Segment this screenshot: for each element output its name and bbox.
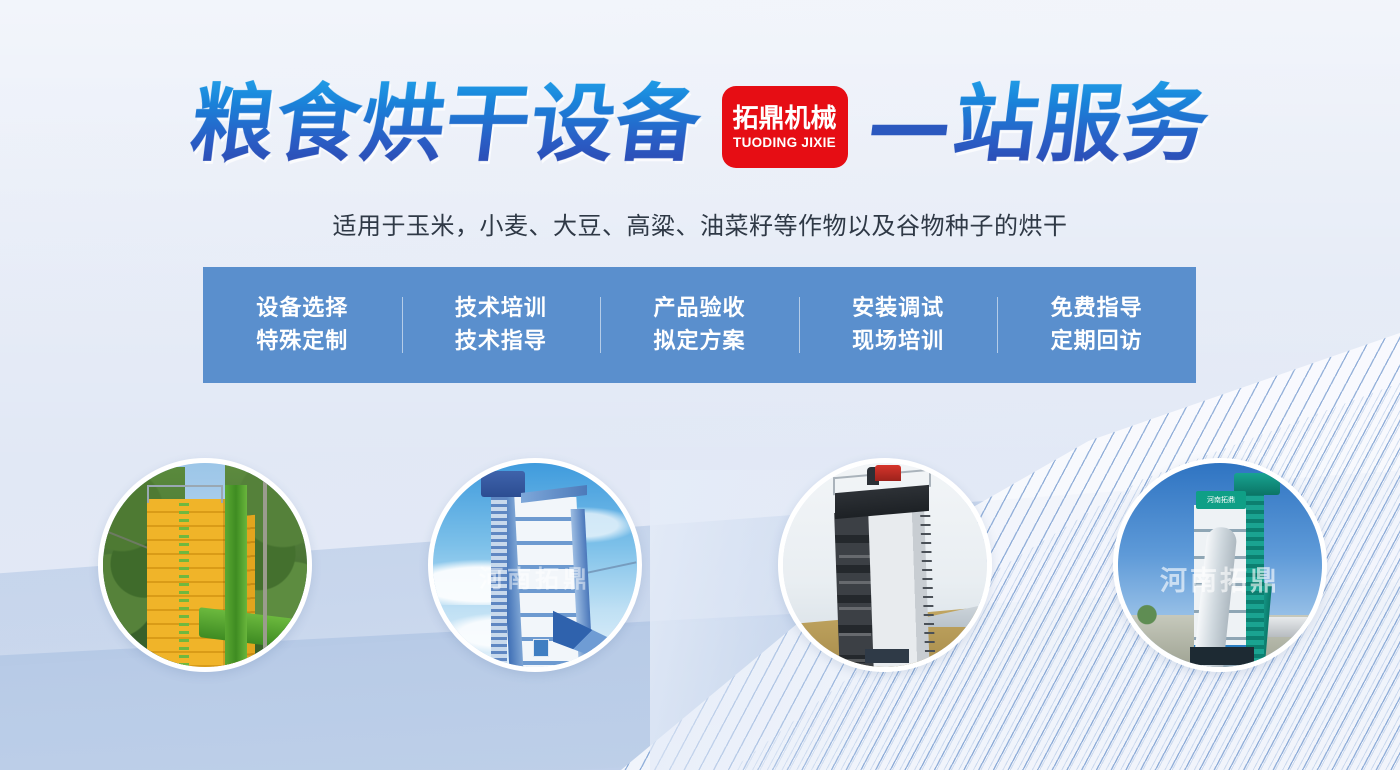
tower-brand-sign-text: 河南拓鼎 — [1196, 491, 1246, 509]
product-photo-1[interactable] — [98, 458, 312, 672]
feature-item-1-line2: 特殊定制 — [256, 325, 348, 358]
tower-base — [1190, 647, 1254, 665]
feature-item-3-line1: 产品验收 — [653, 292, 745, 325]
product-photo-3-scene — [783, 463, 987, 667]
headline: 粮食烘干设备 拓鼎机械 TUODING JIXIE — 站服务 — [0, 76, 1400, 172]
photo-watermark: 河南拓鼎 — [1118, 559, 1322, 598]
headline-dash: — — [848, 76, 960, 172]
tree — [1134, 603, 1160, 629]
brand-logo-chinese: 拓鼎机械 — [732, 104, 836, 134]
louver-vents — [839, 555, 871, 663]
headline-title-right: 站服务 — [948, 76, 1215, 172]
photo-watermark: 河南拓鼎 — [433, 559, 637, 594]
elevator-head — [481, 471, 525, 497]
feature-item-2-line1: 技术培训 — [455, 292, 547, 325]
subtitle: 适用于玉米，小麦、大豆、高粱、油菜籽等作物以及谷物种子的烘干 — [0, 206, 1400, 241]
feature-item-4-line1: 安装调试 — [852, 292, 944, 325]
red-equipment — [875, 465, 901, 481]
bucket-elevator — [225, 485, 247, 672]
feature-item-2[interactable]: 技术培训 技术指导 — [402, 292, 601, 358]
tower-brand-sign: 河南拓鼎 — [1196, 491, 1246, 509]
feature-item-4-line2: 现场培训 — [852, 325, 944, 358]
promo-banner: 粮食烘干设备 拓鼎机械 TUODING JIXIE — 站服务 适用于玉米，小麦… — [0, 0, 1400, 770]
feature-item-4[interactable]: 安装调试 现场培训 — [799, 292, 998, 358]
control-panel — [533, 639, 549, 657]
headline-title-left: 粮食烘干设备 — [186, 76, 722, 172]
feature-item-3-line2: 拟定方案 — [653, 325, 745, 358]
feature-bar: 设备选择 特殊定制 技术培训 技术指导 产品验收 拟定方案 安装调试 现场培训 … — [203, 267, 1196, 383]
tower-base — [865, 649, 909, 663]
feature-item-5-line2: 定期回访 — [1051, 325, 1143, 358]
feature-item-3[interactable]: 产品验收 拟定方案 — [600, 292, 799, 358]
utility-pole — [263, 481, 267, 672]
feature-item-5-line1: 免费指导 — [1051, 292, 1143, 325]
product-photo-1-scene — [103, 463, 307, 667]
brand-logo: 拓鼎机械 TUODING JIXIE — [722, 86, 848, 168]
top-railing — [147, 485, 223, 503]
ladder — [179, 503, 189, 672]
product-photo-2-scene: 河南拓鼎 — [433, 463, 637, 667]
product-photo-4-scene: 河南拓鼎 河南拓鼎 — [1118, 463, 1322, 667]
brand-logo-pinyin: TUODING JIXIE — [733, 134, 836, 151]
dryer-tower — [147, 499, 235, 672]
feature-item-1[interactable]: 设备选择 特殊定制 — [203, 292, 402, 358]
feature-item-2-line2: 技术指导 — [455, 325, 547, 358]
feature-item-5[interactable]: 免费指导 定期回访 — [997, 292, 1196, 358]
product-photo-4[interactable]: 河南拓鼎 河南拓鼎 — [1113, 458, 1327, 672]
product-photo-3[interactable] — [778, 458, 992, 672]
feature-item-1-line1: 设备选择 — [256, 292, 348, 325]
product-photo-2[interactable]: 河南拓鼎 — [428, 458, 642, 672]
